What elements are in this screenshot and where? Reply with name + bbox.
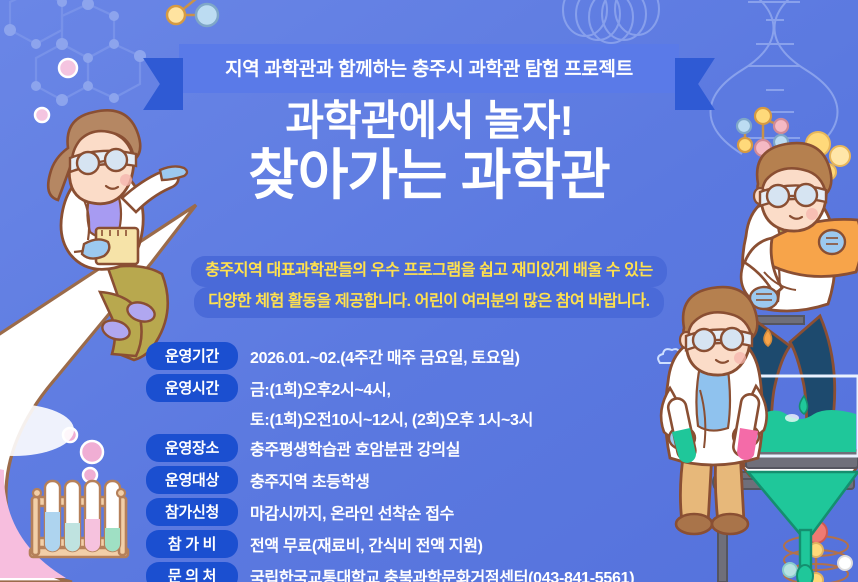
info-label-contact: 문 의 처 (146, 562, 238, 582)
teal-funnel-and-stand-illustration (713, 310, 858, 582)
test-tube-rack-illustration (30, 481, 128, 557)
title-block: 과학관에서 놀자! 찾아가는 과학관 (0, 98, 858, 207)
beaker-with-green-liquid-illustration (758, 376, 858, 456)
info-row-contact: 문 의 처 국립한국교통대학교 충북과학문화거점센터(043-841-5561) (146, 562, 634, 582)
info-value-venue: 충주평생학습관 호암분관 강의실 (238, 434, 460, 460)
info-label-venue: 운영장소 (146, 434, 238, 462)
atom-spiral-decoration (783, 497, 852, 582)
info-label-period: 운영기간 (146, 342, 238, 370)
ribbon-bar: 지역 과학관과 함께하는 충주시 과학관 탐험 프로젝트 (179, 44, 679, 93)
info-value-time-second-line: 토:(1회)오전10시~12시, (2회)오후 1시~3시 (238, 404, 533, 430)
info-row-venue: 운영장소 충주평생학습관 호암분관 강의실 (146, 434, 634, 462)
info-row-time-second-line: 토:(1회)오전10시~12시, (2회)오후 1시~3시 (146, 404, 634, 430)
bench-illustration (746, 450, 858, 468)
info-row-fee: 참 가 비 전액 무료(재료비, 간식비 전액 지원) (146, 530, 634, 558)
info-row-period: 운영기간 2026.01.~02.(4주간 매주 금요일, 토요일) (146, 342, 634, 370)
description-line-2: 다양한 체험 활동을 제공합니다. 어린이 여러분의 많은 참여 바랍니다. (0, 287, 858, 318)
cloud-puff-decoration (658, 349, 684, 363)
info-label-time: 운영시간 (146, 374, 238, 402)
ribbon-text: 지역 과학관과 함께하는 충주시 과학관 탐험 프로젝트 (225, 54, 633, 81)
info-value-contact: 국립한국교통대학교 충북과학문화거점센터(043-841-5561) (238, 562, 634, 582)
info-label-application: 참가신청 (146, 498, 238, 526)
title-line-1: 과학관에서 놀자! (0, 98, 858, 143)
info-value-fee: 전액 무료(재료비, 간식비 전액 지원) (238, 530, 483, 556)
info-value-audience: 충주지역 초등학생 (238, 466, 370, 492)
title-line-2: 찾아가는 과학관 (0, 145, 858, 207)
ribbon-banner: 지역 과학관과 함께하는 충주시 과학관 탐험 프로젝트 (0, 44, 858, 93)
info-value-time: 금:(1회)오후2시~4시, (238, 374, 391, 400)
info-row-time: 운영시간 금:(1회)오후2시~4시, (146, 374, 634, 402)
spiral-coil-decoration (563, 0, 659, 43)
info-value-application: 마감시까지, 온라인 선착순 접수 (238, 498, 454, 524)
poster-canvas: 지역 과학관과 함께하는 충주시 과학관 탐험 프로젝트 과학관에서 놀자! 찾… (0, 0, 858, 582)
description-line-1-text: 충주지역 대표과학관들의 우수 프로그램을 쉽고 재미있게 배울 수 있는 (191, 256, 667, 287)
info-label-audience: 운영대상 (146, 466, 238, 494)
molecule-pair-decoration-top (167, 0, 218, 26)
info-label-fee: 참 가 비 (146, 530, 238, 558)
info-row-audience: 운영대상 충주지역 초등학생 (146, 466, 634, 494)
info-value-period: 2026.01.~02.(4주간 매주 금요일, 토요일) (238, 342, 520, 368)
male-scientist-holding-test-tubes-illustration (661, 287, 767, 534)
info-table: 운영기간 2026.01.~02.(4주간 매주 금요일, 토요일) 운영시간 … (146, 342, 634, 582)
description-line-1: 충주지역 대표과학관들의 우수 프로그램을 쉽고 재미있게 배울 수 있는 (0, 256, 858, 287)
description-line-2-text: 다양한 체험 활동을 제공합니다. 어린이 여러분의 많은 참여 바랍니다. (194, 287, 663, 318)
description-block: 충주지역 대표과학관들의 우수 프로그램을 쉽고 재미있게 배울 수 있는 다양… (0, 256, 858, 318)
info-row-application: 참가신청 마감시까지, 온라인 선착순 접수 (146, 498, 634, 526)
